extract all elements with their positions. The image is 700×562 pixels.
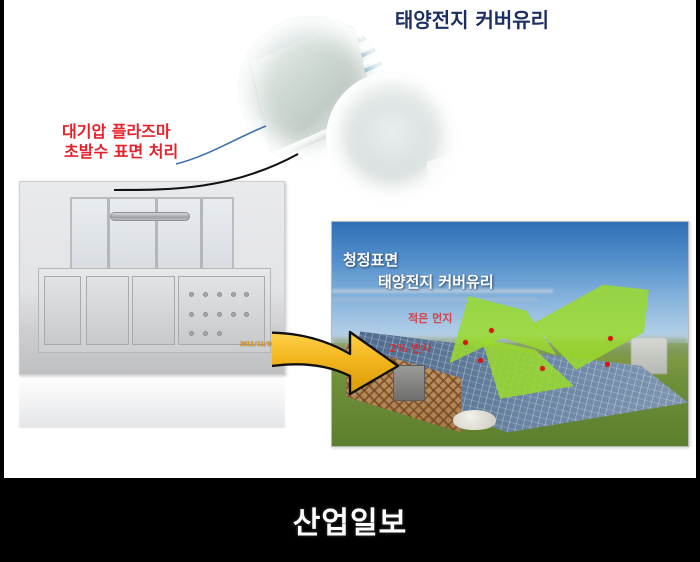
machine-glass-enclosure — [70, 197, 234, 274]
curved-right-arrow-icon — [272, 328, 400, 398]
photo-date-stamp: 2012/11/04 — [240, 341, 274, 348]
dust-marker — [540, 366, 545, 371]
page-title-cover-glass: 태양전지 커버유리 — [342, 4, 602, 33]
dust-marker — [478, 358, 483, 363]
slide-canvas: 태양전지 커버유리 대기압 플라즈마 초발수 표면 처리 — [4, 0, 696, 478]
dust-marker — [608, 336, 613, 341]
plasma-caption-line-2: 초발수 표면 처리 — [62, 142, 178, 162]
background-structure-lower — [332, 298, 538, 301]
dust-marker — [463, 340, 468, 345]
footer-band: 산업일보 — [0, 478, 700, 562]
plasma-nozzle-assembly — [110, 212, 190, 221]
plasma-caption-line-1: 대기압 플라즈마 — [62, 122, 178, 142]
plasma-treatment-caption: 대기압 플라즈마 초발수 표면 처리 — [62, 122, 178, 163]
machine-photo-reflection — [19, 376, 285, 428]
slide-root: 태양전지 커버유리 대기압 플라즈마 초발수 표면 처리 — [0, 0, 700, 562]
dust-marker — [489, 328, 494, 333]
glass-sheet-frosted — [427, 138, 458, 204]
dust-marker — [605, 362, 610, 367]
publisher-watermark: 산업일보 — [293, 498, 407, 542]
annotation-less-dust: 적은 먼지 — [408, 310, 452, 326]
white-rock — [453, 410, 496, 430]
machine-photo: 2012/11/04 — [19, 181, 285, 375]
solar-overlay-title-line-2: 태양전지 커버유리 — [378, 271, 494, 292]
glass-vignette-secondary — [326, 72, 458, 204]
solar-overlay-title-line-1: 청정표면 — [343, 249, 398, 270]
machine-cabinet-base — [38, 268, 270, 352]
